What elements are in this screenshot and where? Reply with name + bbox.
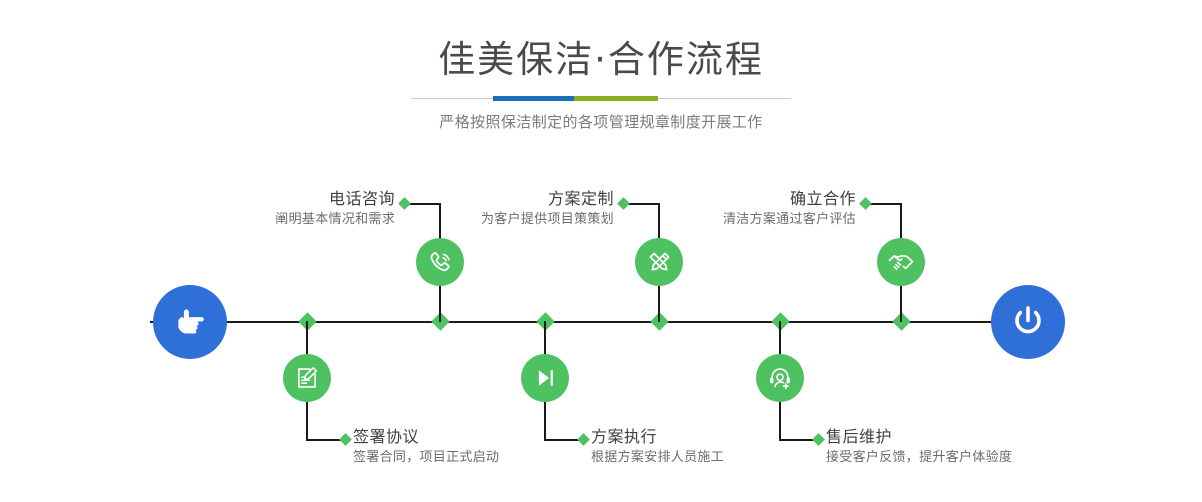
step-desc: 清洁方案通过客户评估 (610, 210, 856, 230)
step-icon-top-2 (635, 238, 683, 286)
step-name: 确立合作 (610, 188, 856, 210)
step-desc: 为客户提供项目策策划 (370, 210, 614, 230)
step-label-bottom-3: 售后维护 接受客户反馈，提升客户体验度 (826, 426, 1012, 468)
timeline: 电话咨询 阐明基本情况和需求 方案定制 为客户提供项目策策划 (0, 0, 1202, 502)
step-name: 方案定制 (370, 188, 614, 210)
label-marker-bottom-3 (812, 433, 825, 446)
process-flow-infographic: 佳美保洁·合作流程 严格按照保洁制定的各项管理规章制度开展工作 (0, 0, 1202, 502)
pencil-design-icon (646, 249, 673, 276)
step-label-bottom-2: 方案执行 根据方案安排人员施工 (591, 426, 724, 468)
timeline-axis (150, 321, 1052, 323)
step-icon-top-1 (416, 238, 464, 286)
handshake-icon (887, 248, 915, 276)
step-label-bottom-1: 签署协议 签署合同，项目正式启动 (353, 426, 499, 468)
step-desc: 签署合同，项目正式启动 (353, 448, 499, 468)
power-button-icon (1007, 301, 1049, 343)
step-label-top-1: 电话咨询 阐明基本情况和需求 (150, 188, 395, 230)
step-name: 签署协议 (353, 426, 499, 448)
document-edit-icon (294, 365, 320, 391)
phone-call-icon (427, 249, 454, 276)
step-icon-bottom-3 (756, 354, 804, 402)
label-marker-bottom-2 (577, 433, 590, 446)
step-desc: 阐明基本情况和需求 (150, 210, 395, 230)
step-icon-top-3 (877, 238, 925, 286)
customer-service-icon (767, 365, 793, 391)
step-icon-bottom-1 (283, 354, 331, 402)
step-name: 电话咨询 (150, 188, 395, 210)
step-desc: 根据方案安排人员施工 (591, 448, 724, 468)
timeline-end-endpoint (991, 285, 1065, 359)
step-label-top-2: 方案定制 为客户提供项目策策划 (370, 188, 614, 230)
step-desc: 接受客户反馈，提升客户体验度 (826, 448, 1012, 468)
label-marker-top-3 (859, 197, 872, 210)
step-name: 方案执行 (591, 426, 724, 448)
step-icon-bottom-2 (521, 354, 569, 402)
label-marker-bottom-1 (339, 433, 352, 446)
step-name: 售后维护 (826, 426, 1012, 448)
step-label-top-3: 确立合作 清洁方案通过客户评估 (610, 188, 856, 230)
pointing-hand-icon (170, 302, 210, 342)
timeline-start-endpoint (153, 285, 227, 359)
play-execute-icon (532, 365, 558, 391)
